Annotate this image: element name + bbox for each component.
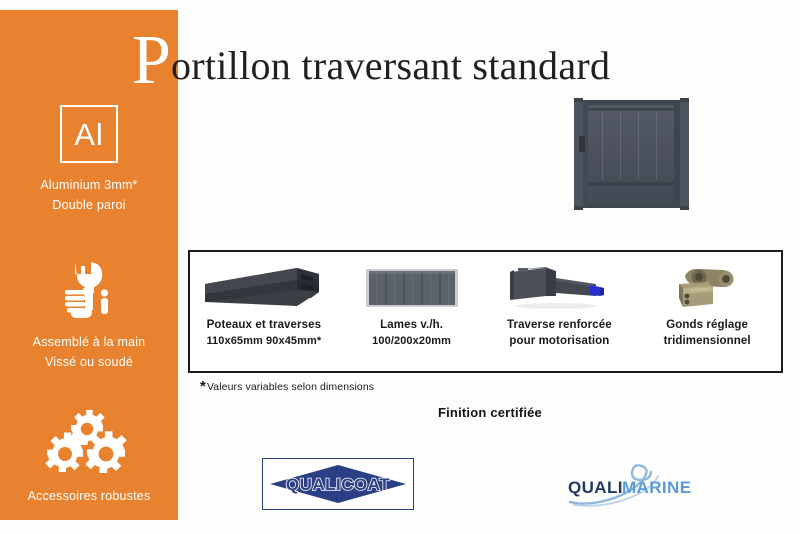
feature-accessories: Accessoires robustes	[0, 410, 178, 506]
component-posts-caption-2: 110x65mm 90x45mm*	[206, 333, 321, 349]
certification-heading: Finition certifiée	[310, 405, 670, 420]
profile-post-icon	[201, 262, 327, 314]
component-crossbar-caption-2: pour motorisation	[509, 333, 609, 349]
page-title: P ortillon traversant standard	[132, 22, 610, 84]
page-title-text: ortillon traversant standard	[171, 46, 610, 86]
qualimarine-logo: QUALI MARINE	[556, 460, 716, 510]
component-hinge-caption-1: Gonds réglage	[666, 317, 748, 333]
component-hinge-caption-2: tridimensionnel	[664, 333, 751, 349]
component-slats-caption-1: Lames v./h.	[380, 317, 443, 333]
feature-accessories-line-1: Accessoires robustes	[0, 486, 178, 506]
component-posts-caption-1: Poteaux et traverses	[207, 317, 322, 333]
footnote-star: *	[200, 378, 206, 395]
gate-product-image	[568, 90, 698, 218]
gears-icon	[43, 410, 135, 476]
footnote-text: Valeurs variables selon dimensions	[207, 381, 374, 393]
slats-icon	[363, 263, 461, 313]
component-reinforced-crossbar: Traverse renforcée pour motorisation	[486, 252, 634, 371]
aluminium-square-icon: Al	[60, 105, 118, 163]
footnote: *Valeurs variables selon dimensions	[200, 378, 374, 395]
qualicoat-logo-mark: QUALICOAT	[266, 462, 410, 506]
component-slats-caption-2: 100/200x20mm	[372, 333, 451, 349]
qualicoat-logo: QUALICOAT	[262, 458, 414, 510]
component-crossbar-caption-1: Traverse renforcée	[507, 317, 612, 333]
component-hinge: Gonds réglage tridimensionnel	[633, 252, 781, 371]
reinforced-crossbar-icon	[500, 262, 618, 314]
feature-aluminium-line-1: Aluminium 3mm*	[0, 175, 178, 195]
qualimarine-logo-text-dark: QUALI	[568, 478, 623, 497]
component-slats: Lames v./h. 100/200x20mm	[338, 252, 486, 371]
page-title-initial: P	[132, 26, 171, 96]
components-panel: Poteaux et traverses 110x65mm 90x45mm*	[188, 250, 783, 373]
qualimarine-logo-mark: QUALI MARINE	[556, 460, 716, 510]
qualicoat-logo-text: QUALICOAT	[286, 475, 390, 494]
component-posts: Poteaux et traverses 110x65mm 90x45mm*	[190, 252, 338, 371]
feature-aluminium-line-2: Double paroi	[0, 195, 178, 215]
feature-aluminium: Al Aluminium 3mm* Double paroi	[0, 105, 178, 215]
feature-assembly: Assemblé à la main Vissé ou soudé	[0, 260, 178, 372]
wrench-hand-icon	[57, 260, 121, 322]
aluminium-symbol-label: Al	[74, 119, 104, 150]
hinge-icon	[665, 262, 749, 314]
gate-handle-icon	[579, 136, 585, 152]
qualimarine-logo-text-light: MARINE	[622, 478, 691, 497]
feature-assembly-line-1: Assemblé à la main	[0, 332, 178, 352]
feature-assembly-line-2: Vissé ou soudé	[0, 352, 178, 372]
